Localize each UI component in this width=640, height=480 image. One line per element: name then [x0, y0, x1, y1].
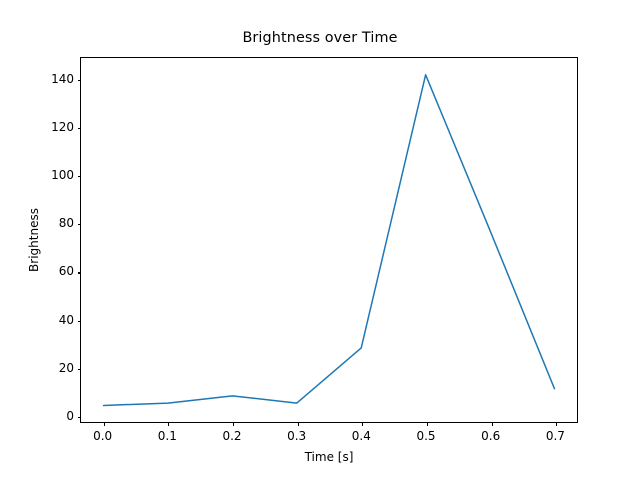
x-tick-label: 0.1	[158, 429, 177, 443]
y-tick-label: 60	[59, 264, 74, 278]
x-tick-label: 0.3	[287, 429, 306, 443]
y-tick-mark	[78, 128, 82, 129]
x-tick-mark	[427, 422, 428, 426]
y-tick-mark	[78, 176, 82, 177]
chart-title: Brightness over Time	[0, 30, 640, 46]
x-tick-label: 0.7	[546, 429, 565, 443]
x-tick-mark	[492, 422, 493, 426]
x-tick-mark	[362, 422, 363, 426]
x-tick-mark	[298, 422, 299, 426]
x-tick-mark	[104, 422, 105, 426]
x-axis-label: Time [s]	[80, 450, 578, 464]
x-tick-label: 0.2	[222, 429, 241, 443]
y-tick-mark	[78, 224, 82, 225]
line-series-brightness	[81, 58, 577, 422]
y-tick-mark	[78, 321, 82, 322]
x-tick-mark	[556, 422, 557, 426]
chart-figure: Brightness over Time 0204060801001201400…	[0, 0, 640, 480]
y-tick-label: 100	[51, 168, 74, 182]
plot-area	[80, 57, 578, 423]
x-tick-label: 0.5	[416, 429, 435, 443]
x-tick-mark	[233, 422, 234, 426]
y-tick-label: 120	[51, 120, 74, 134]
y-tick-mark	[78, 417, 82, 418]
y-tick-mark	[78, 80, 82, 81]
y-tick-mark	[78, 369, 82, 370]
series-polyline	[104, 75, 555, 406]
y-tick-label: 40	[59, 313, 74, 327]
y-tick-label: 0	[66, 409, 74, 423]
y-tick-label: 80	[59, 216, 74, 230]
x-tick-mark	[168, 422, 169, 426]
x-tick-label: 0.0	[93, 429, 112, 443]
x-tick-label: 0.6	[481, 429, 500, 443]
y-tick-label: 20	[59, 361, 74, 375]
x-tick-label: 0.4	[352, 429, 371, 443]
y-axis-label: Brightness	[24, 57, 44, 423]
y-tick-label: 140	[51, 72, 74, 86]
y-tick-mark	[78, 272, 82, 273]
